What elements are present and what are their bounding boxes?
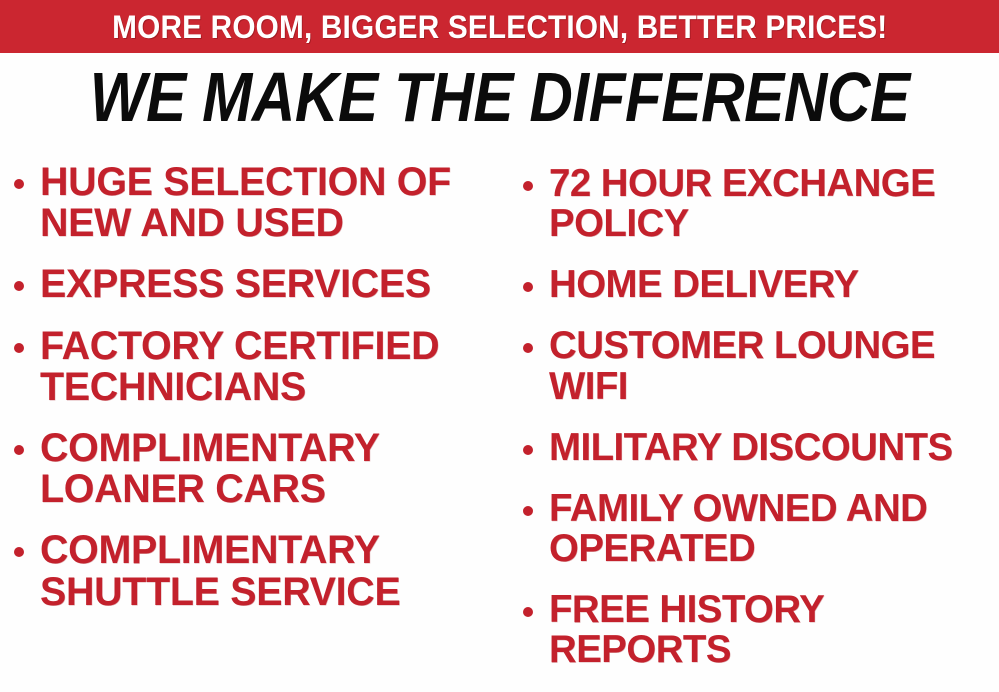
benefit-item: HUGE SELECTION OF NEW AND USED (14, 162, 503, 244)
benefit-item: FREE HISTORY REPORTS (523, 590, 999, 670)
bullet-dot-icon (14, 547, 24, 557)
bullet-dot-icon (523, 506, 533, 516)
benefit-item: CUSTOMER LOUNGE WIFI (523, 326, 999, 406)
benefit-label: HOME DELIVERY (549, 265, 992, 305)
benefit-label: EXPRESS SERVICES (40, 264, 496, 305)
benefit-item: COMPLIMENTARY SHUTTLE SERVICE (14, 530, 503, 612)
benefit-item: FAMILY OWNED AND OPERATED (523, 489, 999, 569)
top-tagline-text: MORE ROOM, BIGGER SELECTION, BETTER PRIC… (112, 11, 887, 43)
bullet-dot-icon (523, 343, 533, 353)
benefit-label: CUSTOMER LOUNGE WIFI (549, 326, 992, 406)
benefits-columns: HUGE SELECTION OF NEW AND USED EXPRESS S… (0, 158, 999, 692)
headline: WE MAKE THE DIFFERENCE (0, 62, 999, 133)
bullet-dot-icon (523, 607, 533, 617)
top-tagline-strip: MORE ROOM, BIGGER SELECTION, BETTER PRIC… (0, 0, 999, 53)
headline-text: WE MAKE THE DIFFERENCE (90, 62, 910, 133)
bullet-dot-icon (523, 445, 533, 455)
dealership-promo-banner: MORE ROOM, BIGGER SELECTION, BETTER PRIC… (0, 0, 999, 692)
benefit-item: HOME DELIVERY (523, 265, 999, 305)
benefit-label: 72 HOUR EXCHANGE POLICY (549, 164, 992, 244)
bullet-dot-icon (523, 181, 533, 191)
bullet-dot-icon (523, 282, 533, 292)
benefit-label: FREE HISTORY REPORTS (549, 590, 992, 670)
benefit-label: COMPLIMENTARY LOANER CARS (40, 428, 496, 510)
benefit-item: COMPLIMENTARY LOANER CARS (14, 428, 503, 510)
benefit-label: FACTORY CERTIFIED TECHNICIANS (40, 326, 496, 408)
bullet-dot-icon (14, 281, 24, 291)
bullet-dot-icon (14, 445, 24, 455)
benefit-label: MILITARY DISCOUNTS (549, 428, 992, 468)
benefit-item: EXPRESS SERVICES (14, 264, 503, 305)
benefit-item: 72 HOUR EXCHANGE POLICY (523, 164, 999, 244)
bullet-dot-icon (14, 343, 24, 353)
benefit-label: FAMILY OWNED AND OPERATED (549, 489, 992, 569)
benefit-item: MILITARY DISCOUNTS (523, 428, 999, 468)
benefit-item: FACTORY CERTIFIED TECHNICIANS (14, 326, 503, 408)
benefits-column-left: HUGE SELECTION OF NEW AND USED EXPRESS S… (0, 158, 503, 633)
benefit-label: HUGE SELECTION OF NEW AND USED (40, 162, 496, 244)
benefits-column-right: 72 HOUR EXCHANGE POLICY HOME DELIVERY CU… (503, 158, 999, 692)
benefit-label: COMPLIMENTARY SHUTTLE SERVICE (40, 530, 496, 612)
bullet-dot-icon (14, 179, 24, 189)
